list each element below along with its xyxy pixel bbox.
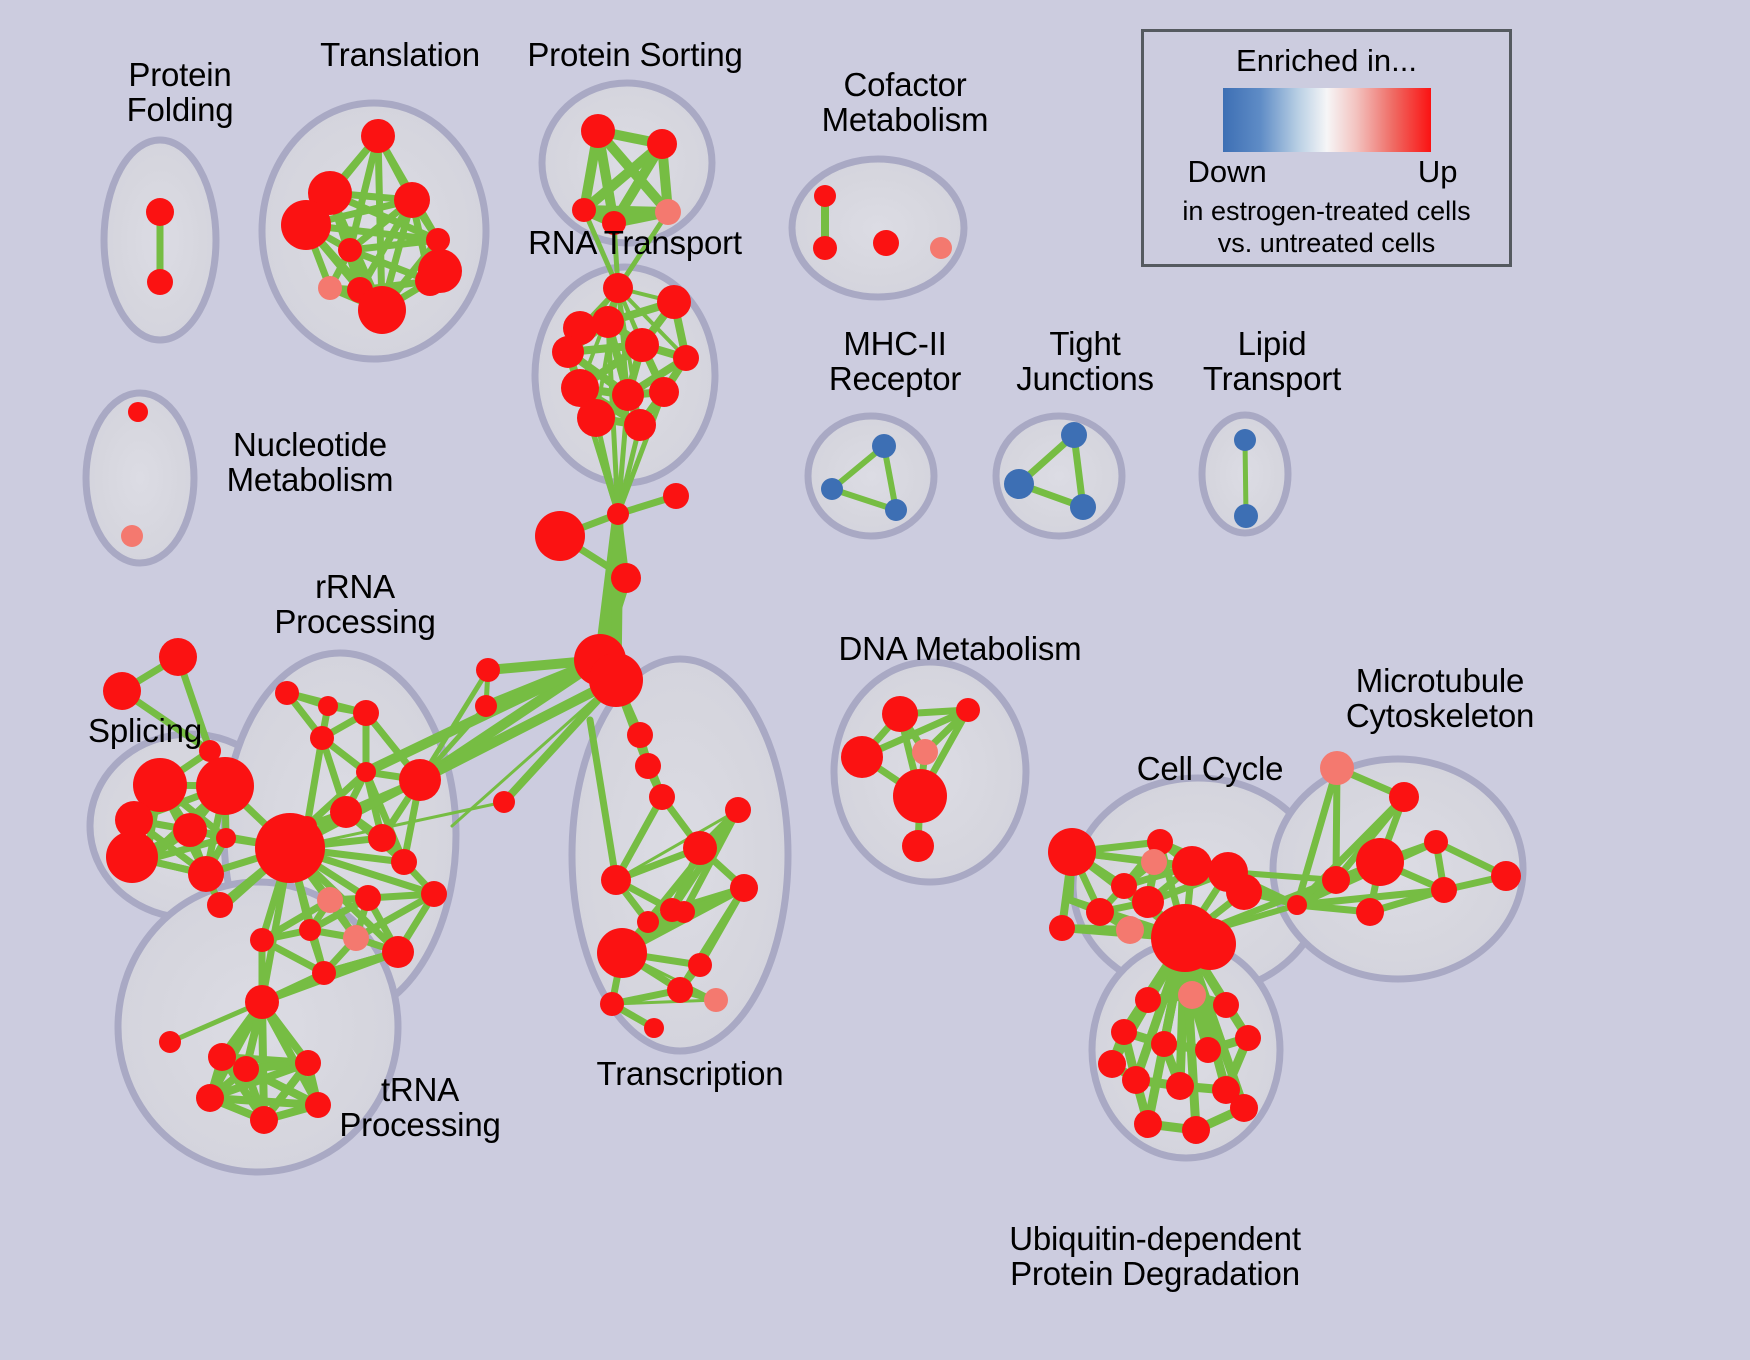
node bbox=[873, 230, 899, 256]
node bbox=[673, 345, 699, 371]
node bbox=[657, 285, 691, 319]
node bbox=[216, 828, 236, 848]
node bbox=[1098, 1050, 1126, 1078]
node bbox=[391, 849, 417, 875]
node bbox=[159, 1031, 181, 1053]
node bbox=[356, 762, 376, 782]
node bbox=[644, 1018, 664, 1038]
node bbox=[1356, 838, 1404, 886]
node bbox=[597, 928, 647, 978]
node bbox=[188, 856, 224, 892]
cluster-label-cofactor-metabolism: Cofactor Metabolism bbox=[790, 68, 1020, 138]
node bbox=[572, 198, 596, 222]
node bbox=[637, 911, 659, 933]
node bbox=[589, 653, 643, 707]
node bbox=[1048, 828, 1096, 876]
node bbox=[625, 328, 659, 362]
node bbox=[426, 228, 450, 252]
cluster-label-ubiquitin-protein-degradation: Ubiquitin-dependent Protein Degradation bbox=[985, 1222, 1325, 1292]
legend-box: Enriched in... Down Up in estrogen-treat… bbox=[1141, 29, 1512, 267]
node bbox=[1320, 751, 1354, 785]
node bbox=[814, 185, 836, 207]
node bbox=[310, 726, 334, 750]
node bbox=[882, 696, 918, 732]
node bbox=[1182, 1116, 1210, 1144]
node bbox=[147, 269, 173, 295]
node bbox=[312, 961, 336, 985]
node bbox=[688, 953, 712, 977]
node bbox=[1226, 874, 1262, 910]
cluster-label-protein-folding: Protein Folding bbox=[80, 58, 280, 128]
node bbox=[627, 722, 653, 748]
node bbox=[1235, 1025, 1261, 1051]
network-figure: Protein Folding Translation Protein Sort… bbox=[0, 0, 1750, 1360]
node bbox=[607, 503, 629, 525]
node bbox=[103, 672, 141, 710]
node bbox=[635, 753, 661, 779]
node bbox=[683, 831, 717, 865]
node bbox=[1424, 830, 1448, 854]
node bbox=[1049, 915, 1075, 941]
node bbox=[704, 988, 728, 1012]
node bbox=[821, 478, 843, 500]
cluster-label-nucleotide-metabolism: Nucleotide Metabolism bbox=[190, 428, 430, 498]
node bbox=[355, 885, 381, 911]
node bbox=[250, 928, 274, 952]
node bbox=[207, 892, 233, 918]
node bbox=[1195, 1037, 1221, 1063]
node bbox=[667, 977, 693, 1003]
node bbox=[250, 1106, 278, 1134]
node bbox=[394, 182, 430, 218]
node bbox=[1122, 1066, 1150, 1094]
node bbox=[1213, 992, 1239, 1018]
node bbox=[1004, 469, 1034, 499]
cluster-label-rna-transport: RNA Transport bbox=[500, 226, 770, 261]
node bbox=[1151, 1031, 1177, 1057]
cluster-label-protein-sorting: Protein Sorting bbox=[495, 38, 775, 73]
node bbox=[475, 695, 497, 717]
legend-subtitle-line2: vs. untreated cells bbox=[1144, 228, 1509, 258]
node bbox=[956, 698, 980, 722]
node bbox=[1086, 898, 1114, 926]
node bbox=[1234, 504, 1258, 528]
node bbox=[930, 237, 952, 259]
node bbox=[912, 739, 938, 765]
node bbox=[233, 1056, 259, 1082]
node bbox=[612, 379, 644, 411]
cluster-label-rrna-processing: rRNA Processing bbox=[245, 570, 465, 640]
node bbox=[624, 409, 656, 441]
node bbox=[535, 511, 585, 561]
node bbox=[1116, 916, 1144, 944]
node bbox=[902, 830, 934, 862]
node bbox=[552, 336, 584, 368]
node bbox=[421, 881, 447, 907]
node bbox=[399, 759, 441, 801]
node bbox=[1491, 861, 1521, 891]
node bbox=[1061, 422, 1087, 448]
node bbox=[885, 499, 907, 521]
node bbox=[196, 1084, 224, 1112]
node bbox=[1389, 782, 1419, 812]
node bbox=[601, 865, 631, 895]
node bbox=[255, 813, 325, 883]
cluster-label-splicing: Splicing bbox=[55, 714, 235, 749]
cluster-label-cell-cycle: Cell Cycle bbox=[1100, 752, 1320, 787]
node bbox=[841, 736, 883, 778]
node bbox=[893, 769, 947, 823]
cluster-label-microtubule-cytoskeleton: Microtubule Cytoskeleton bbox=[1300, 664, 1580, 734]
node bbox=[649, 377, 679, 407]
node bbox=[299, 919, 321, 941]
node bbox=[208, 1043, 236, 1071]
node bbox=[358, 286, 406, 334]
node bbox=[649, 784, 675, 810]
node bbox=[1134, 1110, 1162, 1138]
hull-cofactor bbox=[792, 159, 964, 297]
cluster-label-trna-processing: tRNA Processing bbox=[310, 1073, 530, 1143]
node bbox=[1356, 898, 1384, 926]
cluster-label-translation: Translation bbox=[275, 38, 525, 73]
node bbox=[196, 757, 254, 815]
node bbox=[1287, 895, 1307, 915]
node bbox=[353, 700, 379, 726]
node bbox=[813, 236, 837, 260]
legend-subtitle-line1: in estrogen-treated cells bbox=[1144, 196, 1509, 226]
node bbox=[245, 985, 279, 1019]
node bbox=[1111, 1019, 1137, 1045]
node bbox=[330, 796, 362, 828]
node bbox=[1135, 987, 1161, 1013]
node bbox=[673, 901, 695, 923]
node bbox=[1111, 873, 1137, 899]
node bbox=[1322, 866, 1350, 894]
node bbox=[338, 238, 362, 262]
legend-endpoints: Down Up bbox=[1182, 154, 1472, 194]
legend-down-label: Down bbox=[1188, 154, 1267, 190]
node bbox=[725, 797, 751, 823]
node bbox=[128, 402, 148, 422]
node bbox=[317, 887, 343, 913]
node bbox=[173, 813, 207, 847]
cluster-label-tight-junctions: Tight Junctions bbox=[985, 327, 1185, 397]
node bbox=[577, 399, 615, 437]
node bbox=[1178, 981, 1206, 1009]
node bbox=[1070, 494, 1096, 520]
node bbox=[318, 276, 342, 300]
node bbox=[1172, 846, 1212, 886]
node bbox=[600, 992, 624, 1016]
node bbox=[1230, 1094, 1258, 1122]
node bbox=[318, 696, 338, 716]
node bbox=[1184, 918, 1236, 970]
node bbox=[343, 925, 369, 951]
node bbox=[281, 200, 331, 250]
node bbox=[592, 306, 624, 338]
legend-up-label: Up bbox=[1418, 154, 1458, 190]
node bbox=[1431, 877, 1457, 903]
cluster-label-dna-metabolism: DNA Metabolism bbox=[810, 632, 1110, 667]
node bbox=[275, 681, 299, 705]
cluster-label-lipid-transport: Lipid Transport bbox=[1172, 327, 1372, 397]
node bbox=[603, 273, 633, 303]
node bbox=[418, 249, 462, 293]
node bbox=[1132, 886, 1164, 918]
node bbox=[581, 114, 615, 148]
node bbox=[1166, 1072, 1194, 1100]
node bbox=[1141, 849, 1167, 875]
legend-title: Enriched in... bbox=[1144, 43, 1509, 79]
cluster-label-mhc-ii-receptor: MHC-II Receptor bbox=[795, 327, 995, 397]
node bbox=[647, 129, 677, 159]
node bbox=[159, 638, 197, 676]
node bbox=[382, 936, 414, 968]
node bbox=[1234, 429, 1256, 451]
node bbox=[611, 563, 641, 593]
node bbox=[872, 434, 896, 458]
node bbox=[493, 791, 515, 813]
node bbox=[361, 119, 395, 153]
node bbox=[146, 198, 174, 226]
node bbox=[121, 525, 143, 547]
node bbox=[655, 199, 681, 225]
node bbox=[106, 831, 158, 883]
cluster-label-transcription: Transcription bbox=[560, 1057, 820, 1092]
node bbox=[663, 483, 689, 509]
node bbox=[730, 874, 758, 902]
hull-mhc bbox=[808, 416, 934, 536]
node bbox=[368, 824, 396, 852]
node bbox=[476, 658, 500, 682]
legend-color-gradient-bar bbox=[1223, 88, 1431, 152]
